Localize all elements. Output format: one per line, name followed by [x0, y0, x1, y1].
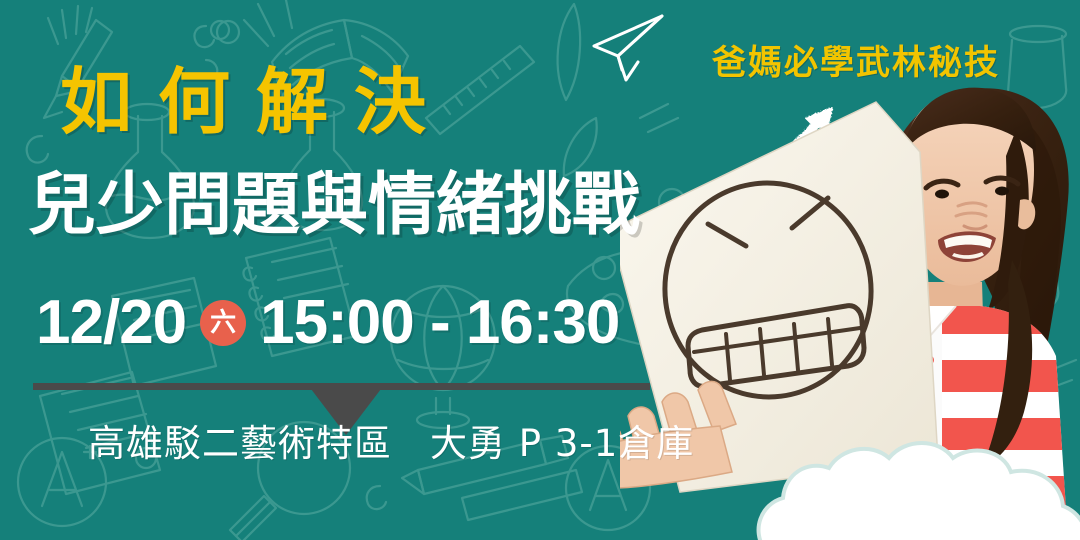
event-datetime: 12/20 六 15:00 - 16:30	[36, 292, 619, 354]
pencil-icon-2	[462, 470, 582, 520]
page-title-line2: 兒少問題與情緒挑戰	[28, 172, 640, 240]
cloud-shape	[755, 440, 1080, 540]
event-date: 12/20	[36, 292, 186, 354]
event-venue: 高雄駁二藝術特區 大勇 P 3-1倉庫	[88, 425, 694, 462]
weekday-badge: 六	[200, 300, 246, 346]
event-poster: 爸媽必學武林秘技 如何解決 兒少問題與情緒挑戰 12/20 六 15:00 - …	[0, 0, 1080, 540]
event-time-range: 15:00 - 16:30	[260, 292, 619, 354]
kicker-text: 爸媽必學武林秘技	[712, 46, 1000, 80]
page-title-line1: 如何解決	[60, 66, 452, 138]
